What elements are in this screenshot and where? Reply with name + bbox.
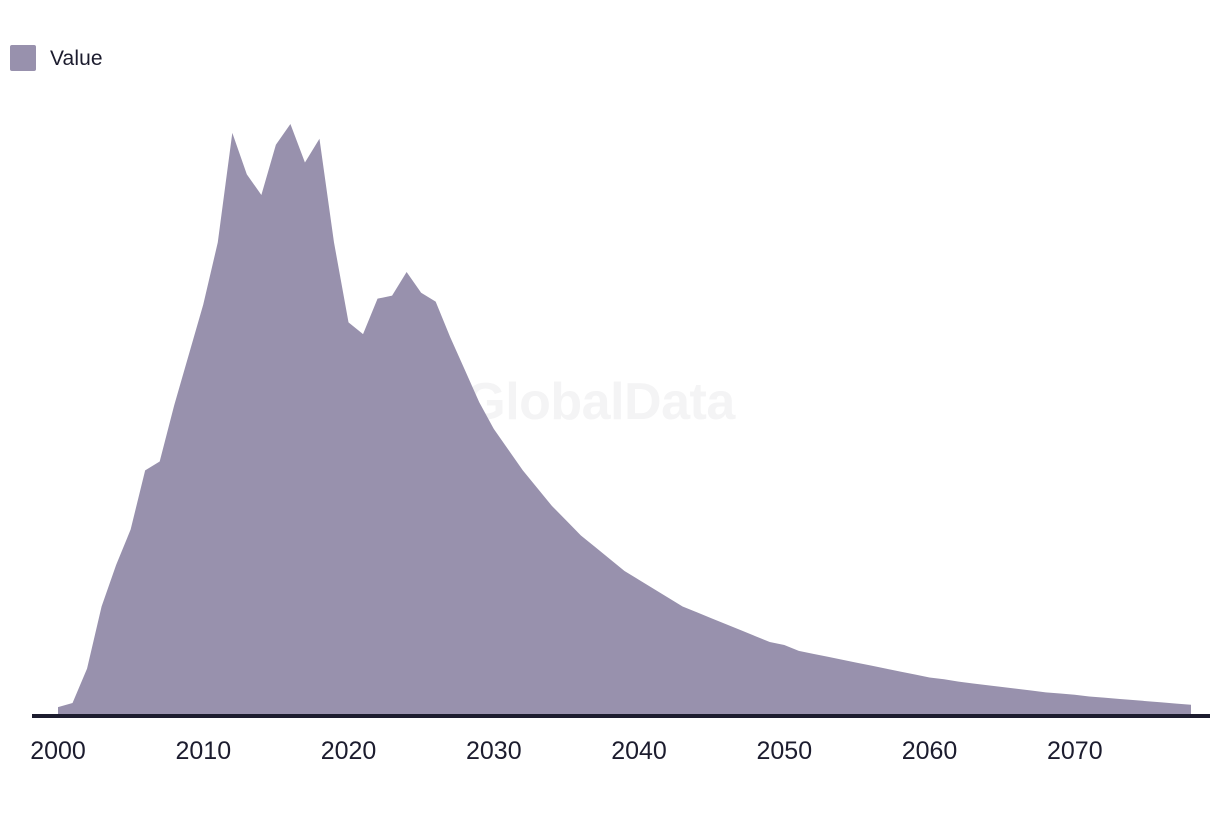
x-tick-label-2020: 2020: [321, 734, 377, 768]
x-tick-label-2050: 2050: [756, 734, 812, 768]
area-series-svg: [0, 0, 1220, 740]
x-tick-label-2060: 2060: [902, 734, 958, 768]
x-axis-tick-labels: 20002010202020302040205020602070: [0, 734, 1220, 768]
area-series-value[interactable]: [58, 124, 1191, 716]
x-tick-label-2030: 2030: [466, 734, 522, 768]
x-tick-label-2040: 2040: [611, 734, 667, 768]
area-chart-root: Value GlobalData 20002010202020302040205…: [0, 0, 1220, 816]
x-tick-label-2010: 2010: [175, 734, 231, 768]
x-tick-label-2070: 2070: [1047, 734, 1103, 768]
plot-area: [0, 0, 1220, 740]
x-tick-label-2000: 2000: [30, 734, 86, 768]
x-axis-line: [32, 714, 1210, 718]
